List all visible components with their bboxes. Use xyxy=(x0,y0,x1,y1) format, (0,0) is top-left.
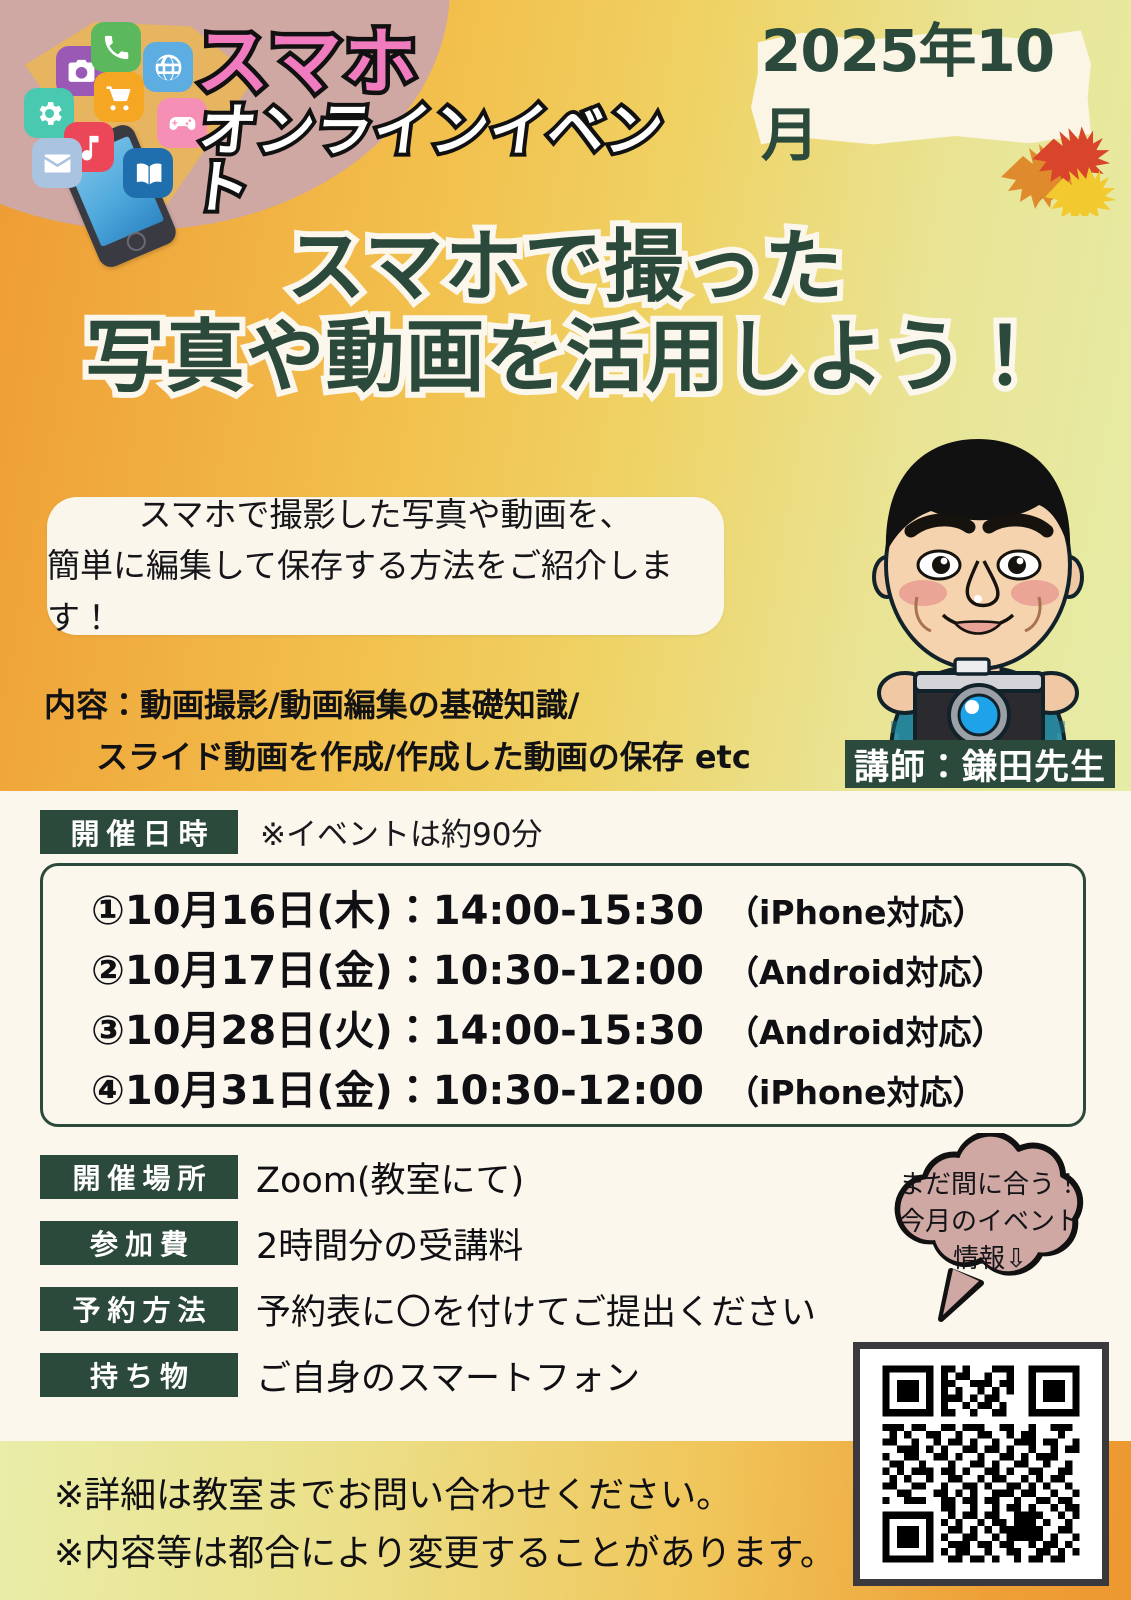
info-value-venue: Zoom(教室にて) xyxy=(256,1152,524,1203)
brand-sub-text: オンラインイベント xyxy=(189,103,723,217)
callout-line-1: スマホで撮影した写真や動画を、 xyxy=(138,489,632,540)
page-title: スマホで撮った 写真や動画を活用しよう！ xyxy=(0,222,1131,402)
schedule-datetime: ③10月28日(火)：14:00-15:30 xyxy=(91,998,704,1056)
info-value-booking: 予約表に〇を付けてご提出ください xyxy=(256,1284,816,1335)
info-row-booking: 予約方法 予約表に〇を付けてご提出ください xyxy=(40,1281,840,1337)
qr-code-image xyxy=(869,1358,1093,1570)
info-value-fee: 2時間分の受講料 xyxy=(256,1218,523,1269)
schedule-list: ①10月16日(木)：14:00-15:30 （iPhone対応） ②10月17… xyxy=(40,863,1086,1127)
brand-main-text: スマホ xyxy=(196,26,716,99)
instructor-badge: 講師：鎌田先生 xyxy=(845,740,1115,788)
mail-app-icon xyxy=(32,138,82,188)
contents-summary: 内容：動画撮影/動画編集の基礎知識/ スライド動画を作成/作成した動画の保存 e… xyxy=(44,680,844,784)
instructor-illustration xyxy=(843,425,1113,755)
info-rows: 開催場所 Zoom(教室にて) 参加費 2時間分の受講料 予約方法 予約表に〇を… xyxy=(40,1149,840,1413)
footer-note-2: ※内容等は都合により変更することがあります。 xyxy=(54,1525,836,1583)
info-tag-booking: 予約方法 xyxy=(40,1287,238,1331)
schedule-header: 開催日時 ※イベントは約90分 xyxy=(40,809,542,854)
contents-line-2: スライド動画を作成/作成した動画の保存 etc xyxy=(44,732,844,784)
schedule-datetime: ④10月31日(金)：10:30-12:00 xyxy=(91,1058,704,1116)
schedule-device: （iPhone対応） xyxy=(726,886,986,934)
schedule-row: ④10月31日(金)：10:30-12:00 （iPhone対応） xyxy=(43,1058,1083,1118)
info-tag-fee: 参加費 xyxy=(40,1221,238,1265)
duration-note: ※イベントは約90分 xyxy=(260,809,542,854)
schedule-datetime: ①10月16日(木)：14:00-15:30 xyxy=(91,878,704,936)
bubble-line-1: まだ間に合う！ xyxy=(865,1167,1115,1204)
bubble-line-2: 今月のイベント xyxy=(865,1204,1115,1241)
promo-speech-bubble: まだ間に合う！ 今月のイベント 情報⇩ xyxy=(865,1133,1115,1323)
info-tag-bring: 持ち物 xyxy=(40,1353,238,1397)
schedule-tag: 開催日時 xyxy=(40,810,238,854)
description-callout: スマホで撮影した写真や動画を、 簡単に編集して保存する方法をご紹介します！ xyxy=(47,497,724,635)
info-row-bring: 持ち物 ご自身のスマートフォン xyxy=(40,1347,840,1403)
book-app-icon xyxy=(123,148,173,198)
callout-line-2: 簡単に編集して保存する方法をご紹介します！ xyxy=(47,540,724,642)
cart-app-icon xyxy=(94,72,144,122)
headline-line-1: スマホで撮った xyxy=(0,222,1131,312)
contents-line-1: 内容：動画撮影/動画編集の基礎知識/ xyxy=(44,680,844,732)
info-tag-venue: 開催場所 xyxy=(40,1155,238,1199)
info-row-fee: 参加費 2時間分の受講料 xyxy=(40,1215,840,1271)
phone-app-icon xyxy=(91,22,141,72)
schedule-row: ①10月16日(木)：14:00-15:30 （iPhone対応） xyxy=(43,878,1083,938)
schedule-device: （iPhone対応） xyxy=(726,1066,986,1114)
footer-note-1: ※詳細は教室までお問い合わせください。 xyxy=(54,1467,836,1525)
schedule-row: ③10月28日(火)：14:00-15:30 （Android対応） xyxy=(43,998,1083,1058)
info-row-venue: 開催場所 Zoom(教室にて) xyxy=(40,1149,840,1205)
schedule-device: （Android対応） xyxy=(726,1006,1005,1054)
schedule-device: （Android対応） xyxy=(726,946,1005,994)
schedule-row: ②10月17日(金)：10:30-12:00 （Android対応） xyxy=(43,938,1083,998)
schedule-datetime: ②10月17日(金)：10:30-12:00 xyxy=(91,938,704,996)
globe-app-icon xyxy=(143,42,193,92)
bubble-text: まだ間に合う！ 今月のイベント 情報⇩ xyxy=(865,1167,1115,1278)
footer-notes: ※詳細は教室までお問い合わせください。 ※内容等は都合により変更することがありま… xyxy=(54,1467,836,1584)
maple-leaves-icon xyxy=(993,96,1123,216)
brand-wordmark: スマホ オンラインイベント xyxy=(196,26,716,217)
qr-code[interactable] xyxy=(853,1342,1109,1586)
bubble-line-3: 情報⇩ xyxy=(865,1241,1115,1278)
info-value-bring: ご自身のスマートフォン xyxy=(256,1350,640,1401)
hero-section: スマホ オンラインイベント 2025年10月 スマホで撮った 写真や動画を活用し… xyxy=(0,0,1131,791)
event-flyer: スマホ オンラインイベント 2025年10月 スマホで撮った 写真や動画を活用し… xyxy=(0,0,1131,1600)
headline-line-2: 写真や動画を活用しよう！ xyxy=(0,312,1131,402)
